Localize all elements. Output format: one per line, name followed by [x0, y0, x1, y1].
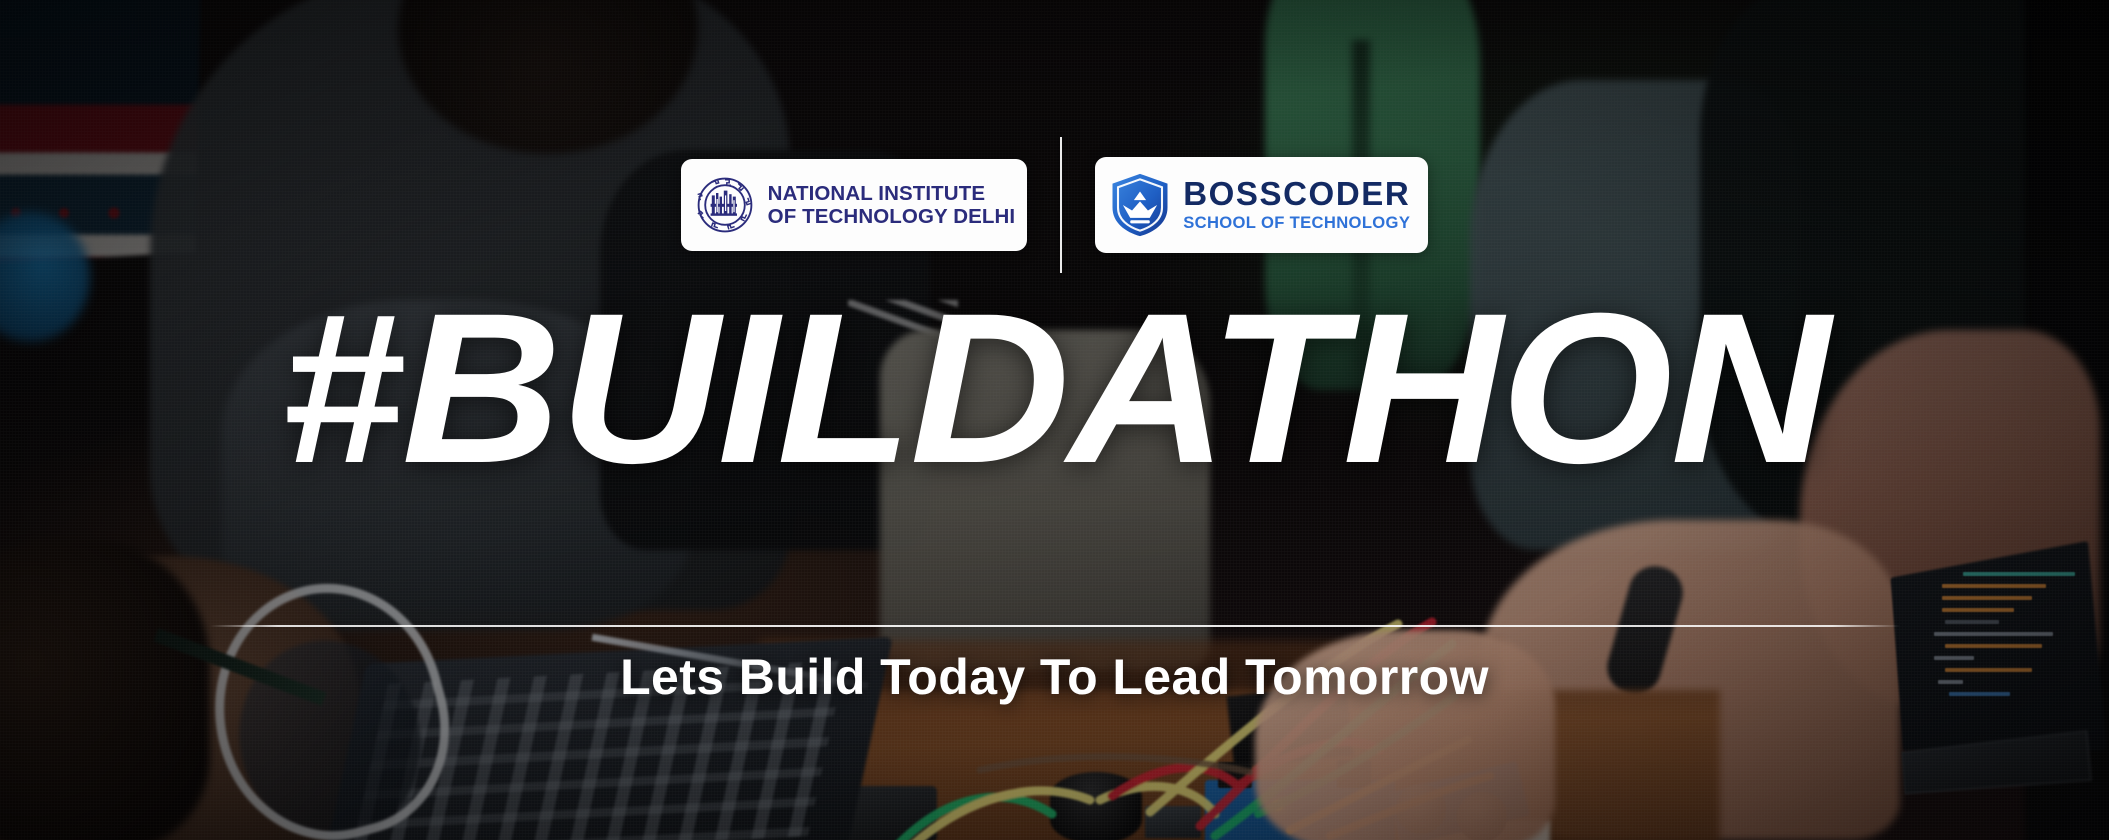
banner-content: NATIONAL INSTITUTE OF TECHNOLOGY DELHI: [0, 0, 2109, 840]
nit-logo-line-2: OF TECHNOLOGY DELHI: [768, 205, 1016, 228]
tagline: Lets Build Today To Lead Tomorrow: [0, 648, 2109, 706]
nit-delhi-logo-text: NATIONAL INSTITUTE OF TECHNOLOGY DELHI: [768, 182, 1016, 228]
logo-row: NATIONAL INSTITUTE OF TECHNOLOGY DELHI: [0, 137, 2109, 273]
page-title: #BUILDATHON: [0, 284, 2109, 494]
bosscoder-shield-icon: [1109, 172, 1171, 238]
nit-delhi-emblem-icon: [695, 175, 755, 235]
horizontal-divider: [210, 625, 1900, 627]
bosscoder-subtitle: SCHOOL OF TECHNOLOGY: [1183, 213, 1410, 234]
bosscoder-name: BOSSCODER: [1183, 177, 1410, 210]
buildathon-hero-banner: NATIONAL INSTITUTE OF TECHNOLOGY DELHI: [0, 0, 2109, 840]
bosscoder-logo-card[interactable]: BOSSCODER SCHOOL OF TECHNOLOGY: [1095, 157, 1428, 253]
logo-separator: [1060, 137, 1062, 273]
nit-logo-line-1: NATIONAL INSTITUTE: [768, 182, 1016, 205]
nit-delhi-logo-card[interactable]: NATIONAL INSTITUTE OF TECHNOLOGY DELHI: [681, 159, 1028, 251]
bosscoder-logo-text: BOSSCODER SCHOOL OF TECHNOLOGY: [1183, 177, 1410, 234]
